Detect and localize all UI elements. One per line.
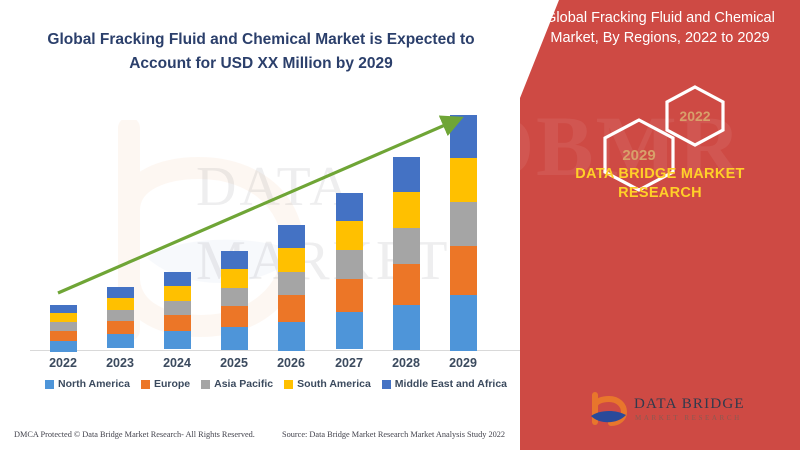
stacked-bar-2022[interactable] xyxy=(50,305,77,350)
x-axis-label-2023: 2023 xyxy=(90,356,150,370)
stacked-bar-2024[interactable] xyxy=(164,272,191,350)
legend-swatch xyxy=(141,380,150,389)
databridge-logo-icon xyxy=(588,392,628,432)
x-axis-label-2024: 2024 xyxy=(147,356,207,370)
x-axis-label-2027: 2027 xyxy=(319,356,379,370)
bar-segment-asia-pacific[interactable] xyxy=(278,272,305,295)
legend-label: Asia Pacific xyxy=(214,378,273,390)
legend-label: Europe xyxy=(154,378,190,390)
bar-segment-asia-pacific[interactable] xyxy=(50,322,77,331)
bar-segment-south-america[interactable] xyxy=(50,313,77,322)
infographic-root: DATAMARKET Global Fracking Fluid and Che… xyxy=(0,0,800,450)
bar-segment-middle-east-and-africa[interactable] xyxy=(336,193,363,221)
bar-segment-europe[interactable] xyxy=(393,264,420,305)
stacked-bar-2026[interactable] xyxy=(278,225,305,350)
legend-item-north-america[interactable]: North America xyxy=(45,378,130,390)
bar-segment-north-america[interactable] xyxy=(221,327,248,350)
legend-item-asia-pacific[interactable]: Asia Pacific xyxy=(201,378,273,390)
x-axis-label-2029: 2029 xyxy=(433,356,493,370)
stacked-bar-2023[interactable] xyxy=(107,287,134,350)
legend-swatch xyxy=(284,380,293,389)
bar-segment-europe[interactable] xyxy=(221,306,248,327)
logo-tagline: MARKET RESEARCH xyxy=(635,414,742,422)
x-axis-label-2025: 2025 xyxy=(204,356,264,370)
bar-segment-asia-pacific[interactable] xyxy=(393,228,420,264)
bar-segment-asia-pacific[interactable] xyxy=(221,288,248,306)
bar-segment-europe[interactable] xyxy=(50,331,77,341)
legend-swatch xyxy=(45,380,54,389)
bar-segment-north-america[interactable] xyxy=(336,312,363,349)
legend-swatch xyxy=(382,380,391,389)
bar-segment-middle-east-and-africa[interactable] xyxy=(278,225,305,248)
bar-segment-middle-east-and-africa[interactable] xyxy=(450,115,477,158)
hexagon-2029-label: 2029 xyxy=(622,147,655,164)
bar-segment-middle-east-and-africa[interactable] xyxy=(221,251,248,269)
legend-label: Middle East and Africa xyxy=(395,378,507,390)
bar-segment-asia-pacific[interactable] xyxy=(107,310,134,321)
hexagon-2022-label: 2022 xyxy=(679,108,710,124)
hexagon-2022: 2022 xyxy=(663,85,727,147)
x-axis-label-2028: 2028 xyxy=(376,356,436,370)
bar-segment-middle-east-and-africa[interactable] xyxy=(50,305,77,313)
right-red-panel: DBMR Global Fracking Fluid and Chemical … xyxy=(520,0,800,450)
bar-segment-north-america[interactable] xyxy=(50,341,77,352)
footer: DMCA Protected © Data Bridge Market Rese… xyxy=(0,424,540,450)
chart-plot-area: 20222023202420252026202720282029 xyxy=(0,0,540,400)
bar-segment-south-america[interactable] xyxy=(393,192,420,228)
bar-segment-europe[interactable] xyxy=(336,279,363,312)
legend-item-south-america[interactable]: South America xyxy=(284,378,371,390)
footer-dmca: DMCA Protected © Data Bridge Market Rese… xyxy=(14,430,255,439)
stacked-bar-2027[interactable] xyxy=(336,193,363,350)
x-axis-label-2022: 2022 xyxy=(33,356,93,370)
brand-logo: DATA BRIDGE MARKET RESEARCH xyxy=(588,392,788,436)
bar-segment-middle-east-and-africa[interactable] xyxy=(393,157,420,192)
chart-legend: North AmericaEuropeAsia PacificSouth Ame… xyxy=(26,378,526,390)
axis-baseline xyxy=(30,350,520,351)
stacked-bar-2028[interactable] xyxy=(393,157,420,350)
bar-segment-south-america[interactable] xyxy=(221,269,248,288)
bar-segment-europe[interactable] xyxy=(164,315,191,331)
bar-segment-south-america[interactable] xyxy=(164,286,191,301)
bar-segment-middle-east-and-africa[interactable] xyxy=(164,272,191,286)
bar-segment-north-america[interactable] xyxy=(164,331,191,349)
x-axis-label-2026: 2026 xyxy=(261,356,321,370)
bar-segment-north-america[interactable] xyxy=(450,295,477,351)
logo-name: DATA BRIDGE xyxy=(634,396,745,413)
legend-item-europe[interactable]: Europe xyxy=(141,378,190,390)
legend-label: South America xyxy=(297,378,371,390)
panel-title: Global Fracking Fluid and Chemical Marke… xyxy=(534,8,786,48)
bar-segment-north-america[interactable] xyxy=(278,322,305,351)
bar-segment-europe[interactable] xyxy=(450,246,477,295)
bar-segment-north-america[interactable] xyxy=(393,305,420,350)
legend-label: North America xyxy=(58,378,130,390)
bar-segment-middle-east-and-africa[interactable] xyxy=(107,287,134,298)
bar-segment-south-america[interactable] xyxy=(336,221,363,250)
bar-segment-asia-pacific[interactable] xyxy=(450,202,477,246)
stacked-bar-2025[interactable] xyxy=(221,251,248,350)
bar-segment-europe[interactable] xyxy=(278,295,305,322)
stacked-bar-2029[interactable] xyxy=(450,115,477,350)
bar-segment-asia-pacific[interactable] xyxy=(336,250,363,279)
bar-segment-south-america[interactable] xyxy=(107,298,134,310)
bar-segment-south-america[interactable] xyxy=(450,158,477,202)
legend-item-middle-east-and-africa[interactable]: Middle East and Africa xyxy=(382,378,507,390)
bar-segment-europe[interactable] xyxy=(107,321,134,334)
footer-source: Source: Data Bridge Market Research Mark… xyxy=(282,430,505,439)
panel-brand: DATA BRIDGE MARKET RESEARCH xyxy=(534,165,786,203)
bar-segment-north-america[interactable] xyxy=(107,334,134,348)
bar-segment-south-america[interactable] xyxy=(278,248,305,272)
bar-segment-asia-pacific[interactable] xyxy=(164,301,191,315)
legend-swatch xyxy=(201,380,210,389)
